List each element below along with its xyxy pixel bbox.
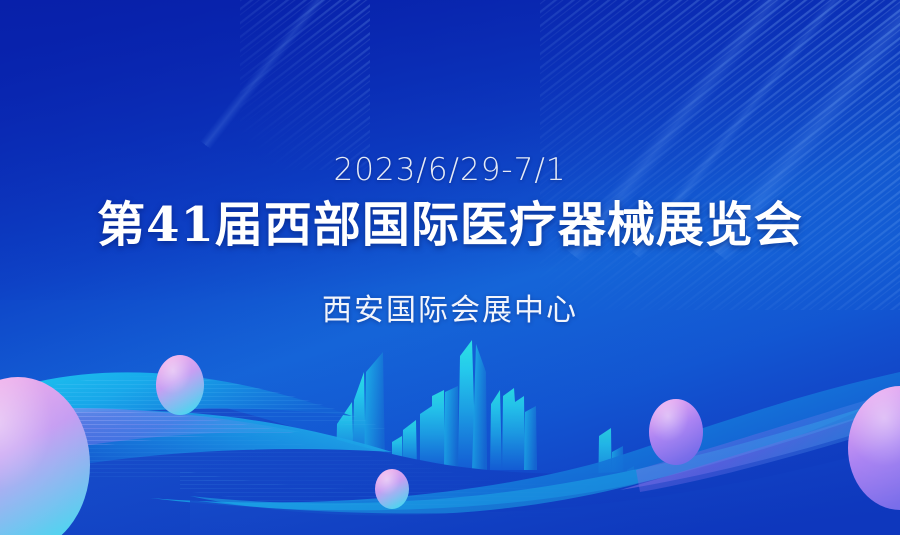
sphere-center-tiny [375,469,409,509]
exhibition-banner: 2023/6/29-7/1 第41届西部国际医疗器械展览会 西安国际会展中心 [0,0,900,535]
sphere-left-small [156,355,204,415]
sphere-right-mid [649,399,703,465]
bottom-glow [0,300,900,535]
background-artwork [0,0,900,535]
